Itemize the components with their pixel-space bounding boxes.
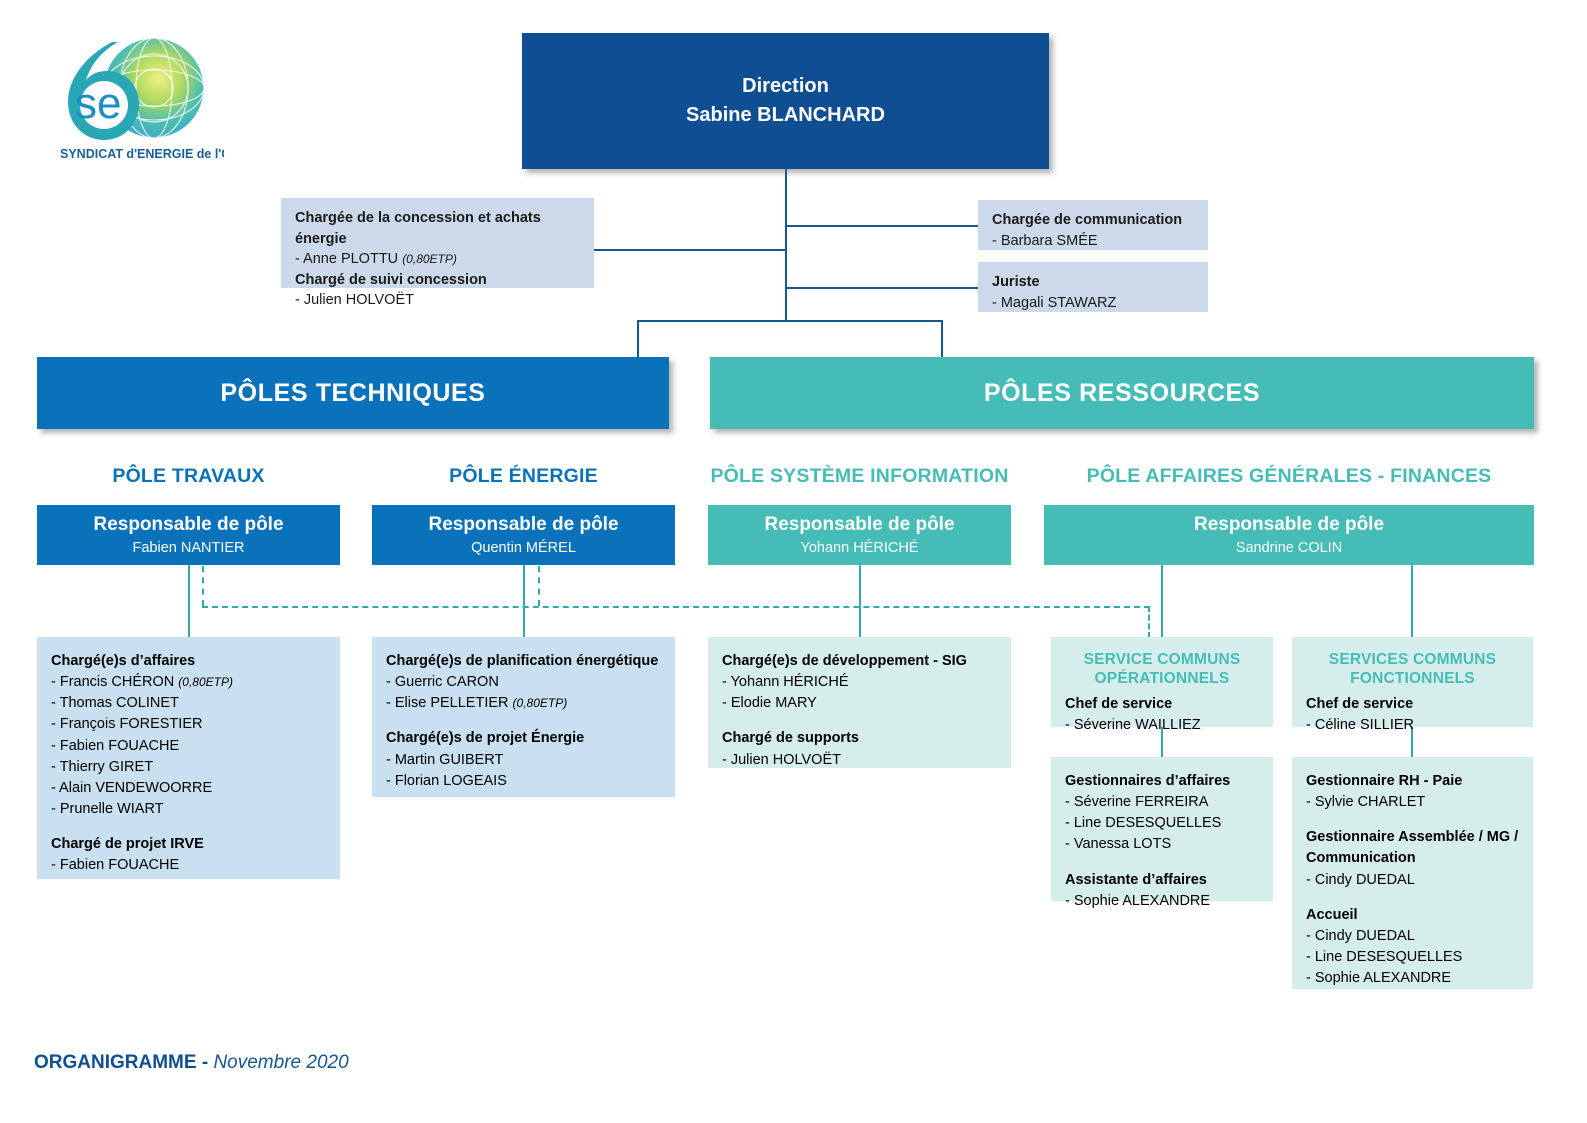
scf-header: SERVICES COMMUNS FONCTIONNELS	[1306, 651, 1519, 688]
sco-item: - Line DESESQUELLES	[1065, 813, 1259, 834]
responsable-box-energie: Responsable de pôle Quentin MÉREL	[372, 505, 675, 565]
scf-header-line1: SERVICES COMMUNS	[1306, 651, 1519, 670]
sco-item: - Séverine FERREIRA	[1065, 792, 1259, 813]
connector-to-communication	[785, 225, 979, 227]
sco-header-line2: OPÉRATIONNELS	[1065, 670, 1259, 689]
connector-direction-stem	[785, 169, 787, 322]
direction-title: Direction	[742, 72, 829, 101]
connector-energie-down	[523, 565, 525, 638]
connector-sig-down	[859, 565, 861, 638]
responsable-name-energie: Quentin MÉREL	[471, 540, 576, 556]
juriste-box: Juriste - Magali STAWARZ	[978, 262, 1208, 312]
se60-logo: se SYNDICAT d'ENERGIE de l'OISE	[34, 30, 224, 170]
sco-group1-title: Gestionnaires d’affaires	[1065, 771, 1259, 792]
sco-header: SERVICE COMMUNS OPÉRATIONNELS	[1065, 651, 1259, 688]
sig-item: - Elodie MARY	[722, 693, 997, 714]
scf-group2-title-line2: Communication	[1306, 848, 1519, 869]
organigramme-page: se SYNDICAT d'ENERGIE de l'OISE Directio…	[0, 0, 1587, 1123]
concession-role-2: Chargé de suivi concession	[295, 270, 580, 291]
responsable-box-affaires-generales: Responsable de pôle Sandrine COLIN	[1044, 505, 1534, 565]
sco-item: - Sophie ALEXANDRE	[1065, 891, 1259, 912]
concession-person-1: - Anne PLOTTU (0,80ETP)	[295, 249, 580, 270]
travaux-item: - Thomas COLINET	[51, 693, 326, 714]
responsable-box-systeme-information: Responsable de pôle Yohann HÉRICHÉ	[708, 505, 1011, 565]
footer-dash: -	[197, 1052, 214, 1073]
spacer	[1306, 891, 1519, 905]
scf-group3-title: Accueil	[1306, 905, 1519, 926]
communication-box: Chargée de communication - Barbara SMÉE	[978, 200, 1208, 250]
scf-group1-title: Gestionnaire RH - Paie	[1306, 771, 1519, 792]
footer-label: ORGANIGRAMME	[34, 1052, 197, 1073]
detail-box-sig: Chargé(e)s de développement - SIG - Yoha…	[708, 637, 1011, 768]
pole-title-energie: PÔLE ÉNERGIE	[372, 465, 675, 488]
responsable-label-sig: Responsable de pôle	[764, 514, 954, 537]
travaux-group1-title: Chargé(e)s d’affaires	[51, 651, 326, 672]
footer-date: Novembre 2020	[213, 1052, 348, 1073]
travaux-item: - François FORESTIER	[51, 714, 326, 735]
detail-box-energie: Chargé(e)s de planification énergétique …	[372, 637, 675, 797]
connector-travaux-down	[188, 565, 190, 638]
responsable-name-travaux: Fabien NANTIER	[132, 540, 244, 556]
travaux-item: - Francis CHÉRON (0,80ETP)	[51, 672, 326, 693]
responsable-label-travaux: Responsable de pôle	[93, 514, 283, 537]
scf-chief-title: Chef de service	[1306, 694, 1519, 715]
logo-graphic: se SYNDICAT d'ENERGIE de l'OISE	[34, 30, 224, 170]
detail-box-travaux: Chargé(e)s d’affaires - Francis CHÉRON (…	[37, 637, 340, 879]
responsable-name-ag: Sandrine COLIN	[1236, 540, 1342, 556]
services-communs-fonctionnels-header: SERVICES COMMUNS FONCTIONNELS Chef de se…	[1292, 637, 1533, 727]
travaux-item-etp: (0,80ETP)	[178, 675, 233, 689]
pole-title-systeme-information: PÔLE SYSTÈME INFORMATION	[708, 465, 1011, 488]
energie-item: - Elise PELLETIER (0,80ETP)	[386, 693, 661, 714]
travaux-item: - Fabien FOUACHE	[51, 855, 326, 876]
concession-role-1: Chargée de la concession et achats énerg…	[295, 208, 580, 249]
banner-ressources-label: PÔLES RESSOURCES	[984, 379, 1260, 408]
sco-group2-title: Assistante d’affaires	[1065, 870, 1259, 891]
connector-dashed-travaux	[202, 566, 204, 606]
direction-name: Sabine BLANCHARD	[686, 101, 885, 130]
energie-item-etp: (0,80ETP)	[513, 696, 568, 710]
svg-text:se: se	[75, 79, 121, 128]
pole-title-affaires-generales-finances: PÔLE AFFAIRES GÉNÉRALES - FINANCES	[1044, 465, 1534, 488]
responsable-name-sig: Yohann HÉRICHÉ	[801, 540, 919, 556]
connector-dashed-horizontal	[202, 606, 1150, 608]
spacer	[722, 714, 997, 728]
sig-group1-title: Chargé(e)s de développement - SIG	[722, 651, 997, 672]
sco-chief-name: - Séverine WAILLIEZ	[1065, 715, 1259, 736]
connector-sco-down	[1161, 565, 1163, 638]
connector-dashed-sco	[1148, 606, 1150, 638]
scf-item: - Line DESESQUELLES	[1306, 947, 1519, 968]
sco-item: - Vanessa LOTS	[1065, 834, 1259, 855]
service-communs-operationnels-header: SERVICE COMMUNS OPÉRATIONNELS Chef de se…	[1051, 637, 1273, 727]
juriste-role: Juriste	[992, 272, 1194, 293]
banner-techniques-label: PÔLES TECHNIQUES	[220, 379, 485, 408]
direction-box: Direction Sabine BLANCHARD	[522, 33, 1049, 169]
responsable-box-travaux: Responsable de pôle Fabien NANTIER	[37, 505, 340, 565]
scf-group2-title-line1: Gestionnaire Assemblée / MG /	[1306, 827, 1519, 848]
spacer	[51, 820, 326, 834]
energie-item: - Martin GUIBERT	[386, 750, 661, 771]
energie-item: - Florian LOGEAIS	[386, 771, 661, 792]
spacer	[1065, 856, 1259, 870]
connector-split-bar	[637, 320, 943, 322]
scf-header-line2: FONCTIONNELS	[1306, 670, 1519, 689]
scf-item: - Cindy DUEDAL	[1306, 926, 1519, 947]
juriste-person: - Magali STAWARZ	[992, 293, 1194, 314]
sig-item: - Yohann HÉRICHÉ	[722, 672, 997, 693]
responsable-label-energie: Responsable de pôle	[428, 514, 618, 537]
connector-to-concession	[594, 249, 786, 251]
services-communs-fonctionnels-list: Gestionnaire RH - Paie - Sylvie CHARLET …	[1292, 757, 1533, 989]
energie-group2-title: Chargé(e)s de projet Énergie	[386, 728, 661, 749]
connector-to-ressources	[941, 320, 943, 358]
responsable-label-ag: Responsable de pôle	[1194, 514, 1384, 537]
connector-to-techniques	[637, 320, 639, 358]
connector-scf-down	[1411, 565, 1413, 638]
travaux-item: - Thierry GIRET	[51, 757, 326, 778]
sig-group2-title: Chargé de supports	[722, 728, 997, 749]
logo-tagline: SYNDICAT d'ENERGIE de l'OISE	[60, 147, 224, 161]
connector-dashed-energie	[538, 566, 540, 606]
connector-to-juriste	[785, 287, 979, 289]
sig-item: - Julien HOLVOËT	[722, 750, 997, 771]
travaux-item: - Fabien FOUACHE	[51, 736, 326, 757]
communication-role: Chargée de communication	[992, 210, 1194, 231]
pole-title-travaux: PÔLE TRAVAUX	[37, 465, 340, 488]
spacer	[1306, 813, 1519, 827]
scf-item: - Sophie ALEXANDRE	[1306, 968, 1519, 989]
travaux-group2-title: Chargé de projet IRVE	[51, 834, 326, 855]
scf-item: - Cindy DUEDAL	[1306, 870, 1519, 891]
scf-item: - Sylvie CHARLET	[1306, 792, 1519, 813]
spacer	[386, 714, 661, 728]
travaux-item: - Alain VENDEWOORRE	[51, 778, 326, 799]
concession-person-2: - Julien HOLVOËT	[295, 290, 580, 311]
banner-poles-techniques: PÔLES TECHNIQUES	[37, 357, 669, 429]
scf-chief-name: - Céline SILLIER	[1306, 715, 1519, 736]
communication-person: - Barbara SMÉE	[992, 231, 1194, 252]
footer: ORGANIGRAMME - Novembre 2020	[34, 1052, 349, 1074]
energie-item: - Guerric CARON	[386, 672, 661, 693]
service-communs-operationnels-list: Gestionnaires d’affaires - Séverine FERR…	[1051, 757, 1273, 901]
sco-header-line1: SERVICE COMMUNS	[1065, 651, 1259, 670]
energie-group1-title: Chargé(e)s de planification énergétique	[386, 651, 661, 672]
travaux-item: - Prunelle WIART	[51, 799, 326, 820]
banner-poles-ressources: PÔLES RESSOURCES	[710, 357, 1534, 429]
concession-etp: (0,80ETP)	[402, 252, 457, 266]
sco-chief-title: Chef de service	[1065, 694, 1259, 715]
concession-box: Chargée de la concession et achats énerg…	[281, 198, 594, 288]
